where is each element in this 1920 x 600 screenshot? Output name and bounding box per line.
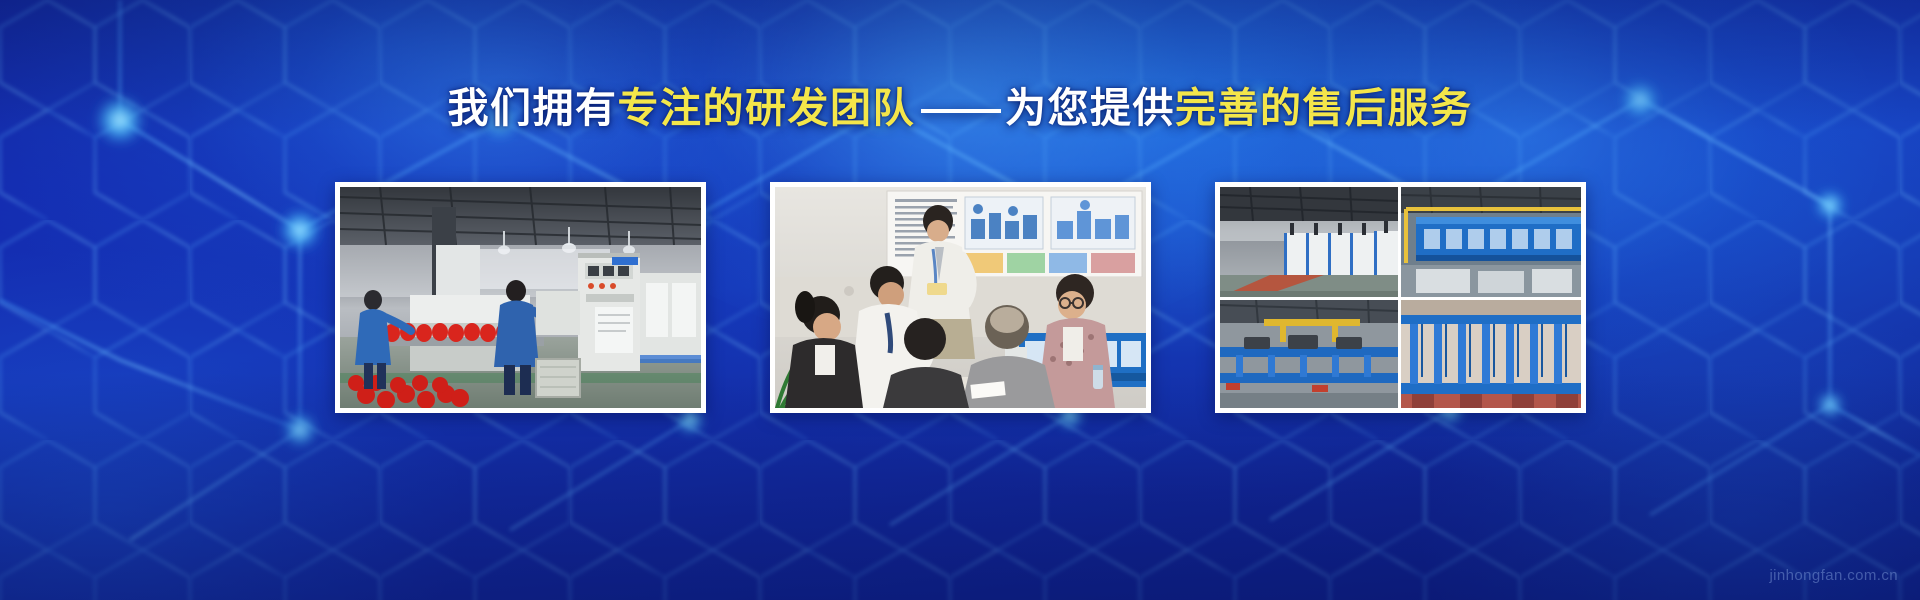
photo-rnd-team-meeting	[775, 187, 1146, 408]
banner-root: 我们拥有专注的研发团队——为您提供完善的售后服务	[0, 0, 1920, 600]
headline-segment-2-highlight: 专注的研发团队	[618, 85, 916, 131]
site-watermark: jinhongfan.com.cn	[1769, 567, 1898, 584]
photo-frame-factory-production-line[interactable]	[335, 182, 706, 413]
headline-segment-3: 为您提供	[1005, 85, 1175, 131]
headline-segment-4-highlight: 完善的售后服务	[1175, 85, 1473, 131]
photo-frame-equipment-collage[interactable]	[1215, 182, 1586, 413]
photo-factory-production-line	[340, 187, 701, 408]
headline-dash: ——	[915, 85, 1005, 131]
banner-headline: 我们拥有专注的研发团队——为您提供完善的售后服务	[0, 82, 1920, 134]
headline-segment-1: 我们拥有	[448, 85, 618, 131]
photo-frame-rnd-team-meeting[interactable]	[770, 182, 1151, 413]
photo-gallery-row	[0, 182, 1920, 414]
photo-equipment-collage	[1220, 187, 1581, 408]
